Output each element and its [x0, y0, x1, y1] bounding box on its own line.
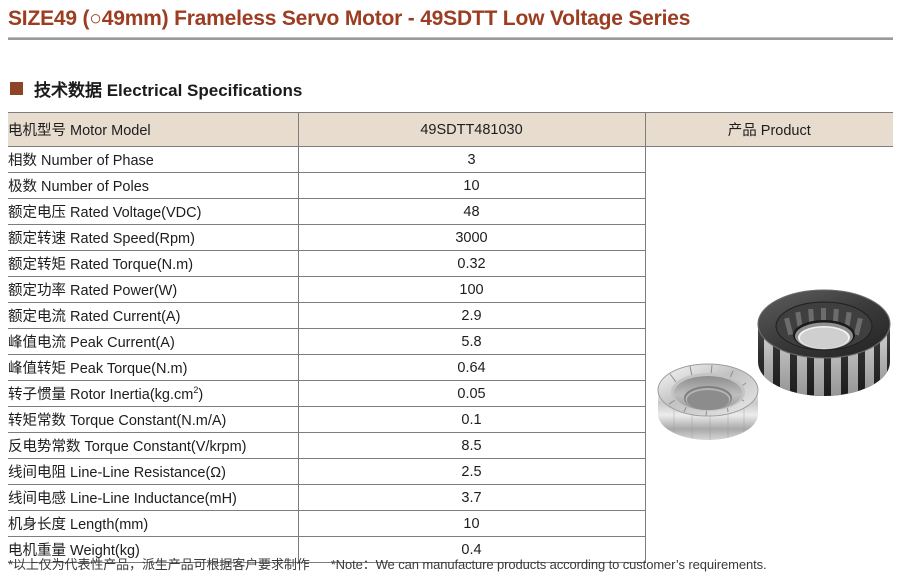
column-header-motor-model: 电机型号 Motor Model — [8, 113, 298, 147]
spec-value: 5.8 — [298, 329, 645, 355]
spec-value: 2.9 — [298, 303, 645, 329]
column-header-model-number: 49SDTT481030 — [298, 113, 645, 147]
title-divider-rule — [8, 37, 893, 40]
spec-label: 转子惯量 Rotor Inertia(kg.cm2) — [8, 381, 298, 407]
square-bullet-icon — [10, 82, 23, 95]
table-header-row: 电机型号 Motor Model 49SDTT481030 产品 Product — [8, 113, 893, 147]
section-heading-label: 技术数据 Electrical Specifications — [34, 76, 302, 101]
spec-value: 100 — [298, 277, 645, 303]
spec-value: 3.7 — [298, 485, 645, 511]
spec-value: 0.1 — [298, 407, 645, 433]
spec-label: 转矩常数 Torque Constant(N.m/A) — [8, 407, 298, 433]
column-header-product: 产品 Product — [645, 113, 893, 147]
spec-label: 反电势常数 Torque Constant(V/krpm) — [8, 433, 298, 459]
spec-value: 8.5 — [298, 433, 645, 459]
spec-label: 额定转速 Rated Speed(Rpm) — [8, 225, 298, 251]
spec-label: 相数 Number of Phase — [8, 147, 298, 173]
spec-label: 机身长度 Length(mm) — [8, 511, 298, 537]
spec-value: 10 — [298, 173, 645, 199]
footnote-chinese: *以上仅为代表性产品，派生产品可根据客户要求制作 — [8, 557, 310, 572]
spec-value: 0.32 — [298, 251, 645, 277]
page-title: SIZE49 (○49mm) Frameless Servo Motor - 4… — [8, 5, 892, 32]
footnote-english: *Note：We can manufacture products accord… — [331, 557, 767, 572]
spec-value: 0.05 — [298, 381, 645, 407]
spec-value: 3000 — [298, 225, 645, 251]
spec-label: 峰值转矩 Peak Torque(N.m) — [8, 355, 298, 381]
spec-label: 线间电感 Line-Line Inductance(mH) — [8, 485, 298, 511]
spec-label: 极数 Number of Poles — [8, 173, 298, 199]
spec-label: 额定电流 Rated Current(A) — [8, 303, 298, 329]
spec-value: 0.64 — [298, 355, 645, 381]
section-heading: 技术数据 Electrical Specifications — [10, 76, 302, 101]
spec-label: 额定电压 Rated Voltage(VDC) — [8, 199, 298, 225]
spec-label: 额定转矩 Rated Torque(N.m) — [8, 251, 298, 277]
spec-value: 10 — [298, 511, 645, 537]
spec-label: 线间电阻 Line-Line Resistance(Ω) — [8, 459, 298, 485]
spec-value: 48 — [298, 199, 645, 225]
spec-label: 峰值电流 Peak Current(A) — [8, 329, 298, 355]
footnote: *以上仅为代表性产品，派生产品可根据客户要求制作 *Note：We can ma… — [8, 554, 767, 573]
spec-label: 额定功率 Rated Power(W) — [8, 277, 298, 303]
spec-value: 3 — [298, 147, 645, 173]
product-image-cell — [645, 147, 893, 563]
spec-value: 2.5 — [298, 459, 645, 485]
table-row: 相数 Number of Phase3 — [8, 147, 893, 173]
electrical-specifications-table: 电机型号 Motor Model 49SDTT481030 产品 Product… — [8, 112, 893, 563]
